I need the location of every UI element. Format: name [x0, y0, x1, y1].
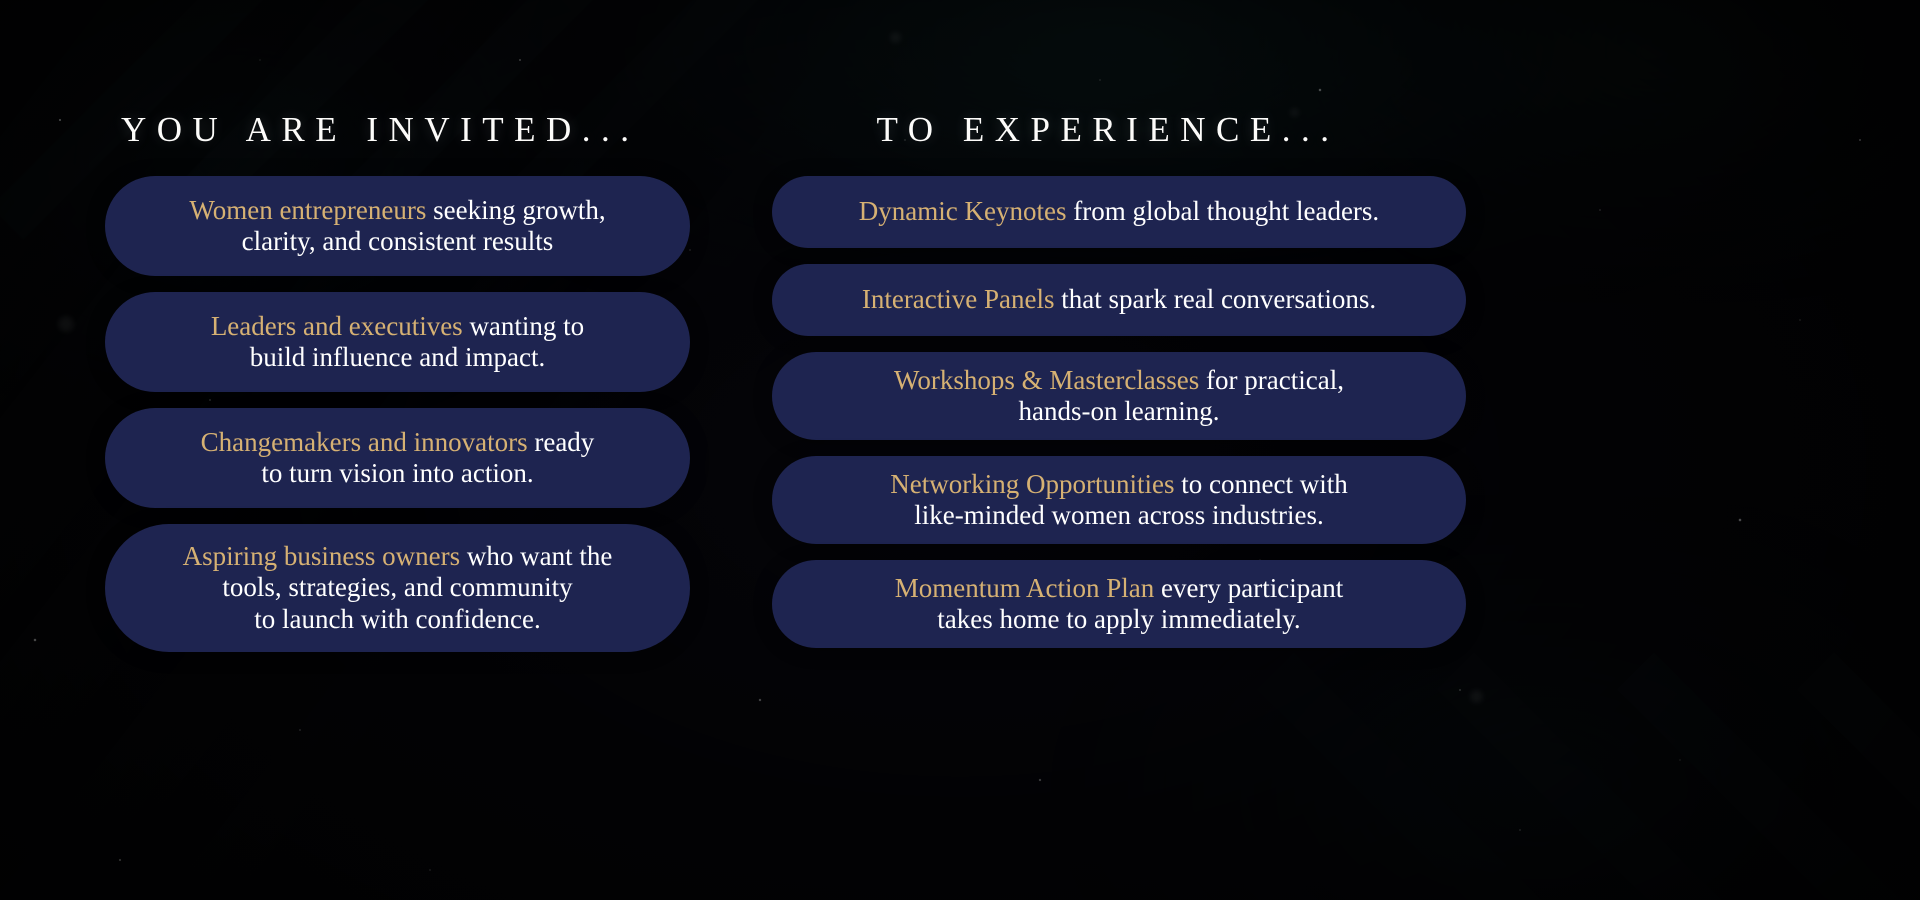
body-phrase: every participant — [1154, 573, 1343, 603]
body-line-2: build influence and impact. — [250, 342, 545, 372]
body-line-2: like-minded women across industries. — [914, 500, 1323, 530]
left-pill-1-text: Women entrepreneurs seeking growth, clar… — [163, 195, 631, 258]
body-phrase: who want the — [460, 541, 612, 571]
body-line-2: takes home to apply immediately. — [937, 604, 1300, 634]
body-phrase: to connect with — [1175, 469, 1348, 499]
body-phrase: wanting to — [463, 311, 585, 341]
right-pill-4[interactable]: Networking Opportunities to connect with… — [772, 456, 1466, 544]
right-pill-5-text: Momentum Action Plan every participant t… — [869, 573, 1369, 636]
left-column-heading: YOU ARE INVITED... — [105, 110, 690, 150]
left-pill-2[interactable]: Leaders and executives wanting to build … — [105, 292, 690, 392]
accent-phrase: Leaders and executives — [211, 311, 463, 341]
right-pill-5[interactable]: Momentum Action Plan every participant t… — [772, 560, 1466, 648]
body-line-2: hands-on learning. — [1019, 396, 1220, 426]
right-pill-4-text: Networking Opportunities to connect with… — [864, 469, 1373, 532]
left-pill-4-text: Aspiring business owners who want the to… — [157, 541, 639, 635]
accent-phrase: Dynamic Keynotes — [859, 196, 1067, 226]
left-column: YOU ARE INVITED... Women entrepreneurs s… — [105, 110, 690, 668]
body-line-2: tools, strategies, and community — [222, 572, 572, 602]
body-phrase: that spark real conversations. — [1055, 284, 1377, 314]
right-pill-3-text: Workshops & Masterclasses for practical,… — [868, 365, 1370, 428]
accent-phrase: Workshops & Masterclasses — [894, 365, 1199, 395]
left-pill-2-text: Leaders and executives wanting to build … — [185, 311, 610, 374]
accent-phrase: Aspiring business owners — [183, 541, 461, 571]
accent-phrase: Women entrepreneurs — [189, 195, 426, 225]
right-column-heading: TO EXPERIENCE... — [772, 110, 1466, 150]
body-phrase: seeking growth, — [426, 195, 605, 225]
left-pill-3[interactable]: Changemakers and innovators ready to tur… — [105, 408, 690, 508]
right-pill-1-text: Dynamic Keynotes from global thought lea… — [833, 196, 1405, 227]
accent-phrase: Changemakers and innovators — [201, 427, 528, 457]
left-pill-3-text: Changemakers and innovators ready to tur… — [175, 427, 621, 490]
right-pill-3[interactable]: Workshops & Masterclasses for practical,… — [772, 352, 1466, 440]
right-pill-2[interactable]: Interactive Panels that spark real conve… — [772, 264, 1466, 336]
body-phrase: ready — [528, 427, 595, 457]
body-phrase: from global thought leaders. — [1067, 196, 1380, 226]
right-column: TO EXPERIENCE... Dynamic Keynotes from g… — [772, 110, 1466, 664]
left-pill-4[interactable]: Aspiring business owners who want the to… — [105, 524, 690, 652]
body-line-3: to launch with confidence. — [254, 604, 540, 634]
body-line-2: to turn vision into action. — [261, 458, 533, 488]
body-phrase: for practical, — [1199, 365, 1344, 395]
accent-phrase: Networking Opportunities — [890, 469, 1174, 499]
slide-canvas: YOU ARE INVITED... Women entrepreneurs s… — [0, 0, 1920, 900]
left-pill-1[interactable]: Women entrepreneurs seeking growth, clar… — [105, 176, 690, 276]
accent-phrase: Momentum Action Plan — [895, 573, 1155, 603]
right-pill-2-text: Interactive Panels that spark real conve… — [836, 284, 1402, 315]
right-pill-1[interactable]: Dynamic Keynotes from global thought lea… — [772, 176, 1466, 248]
accent-phrase: Interactive Panels — [862, 284, 1055, 314]
body-line-2: clarity, and consistent results — [242, 226, 554, 256]
slide-content: YOU ARE INVITED... Women entrepreneurs s… — [0, 0, 1920, 900]
